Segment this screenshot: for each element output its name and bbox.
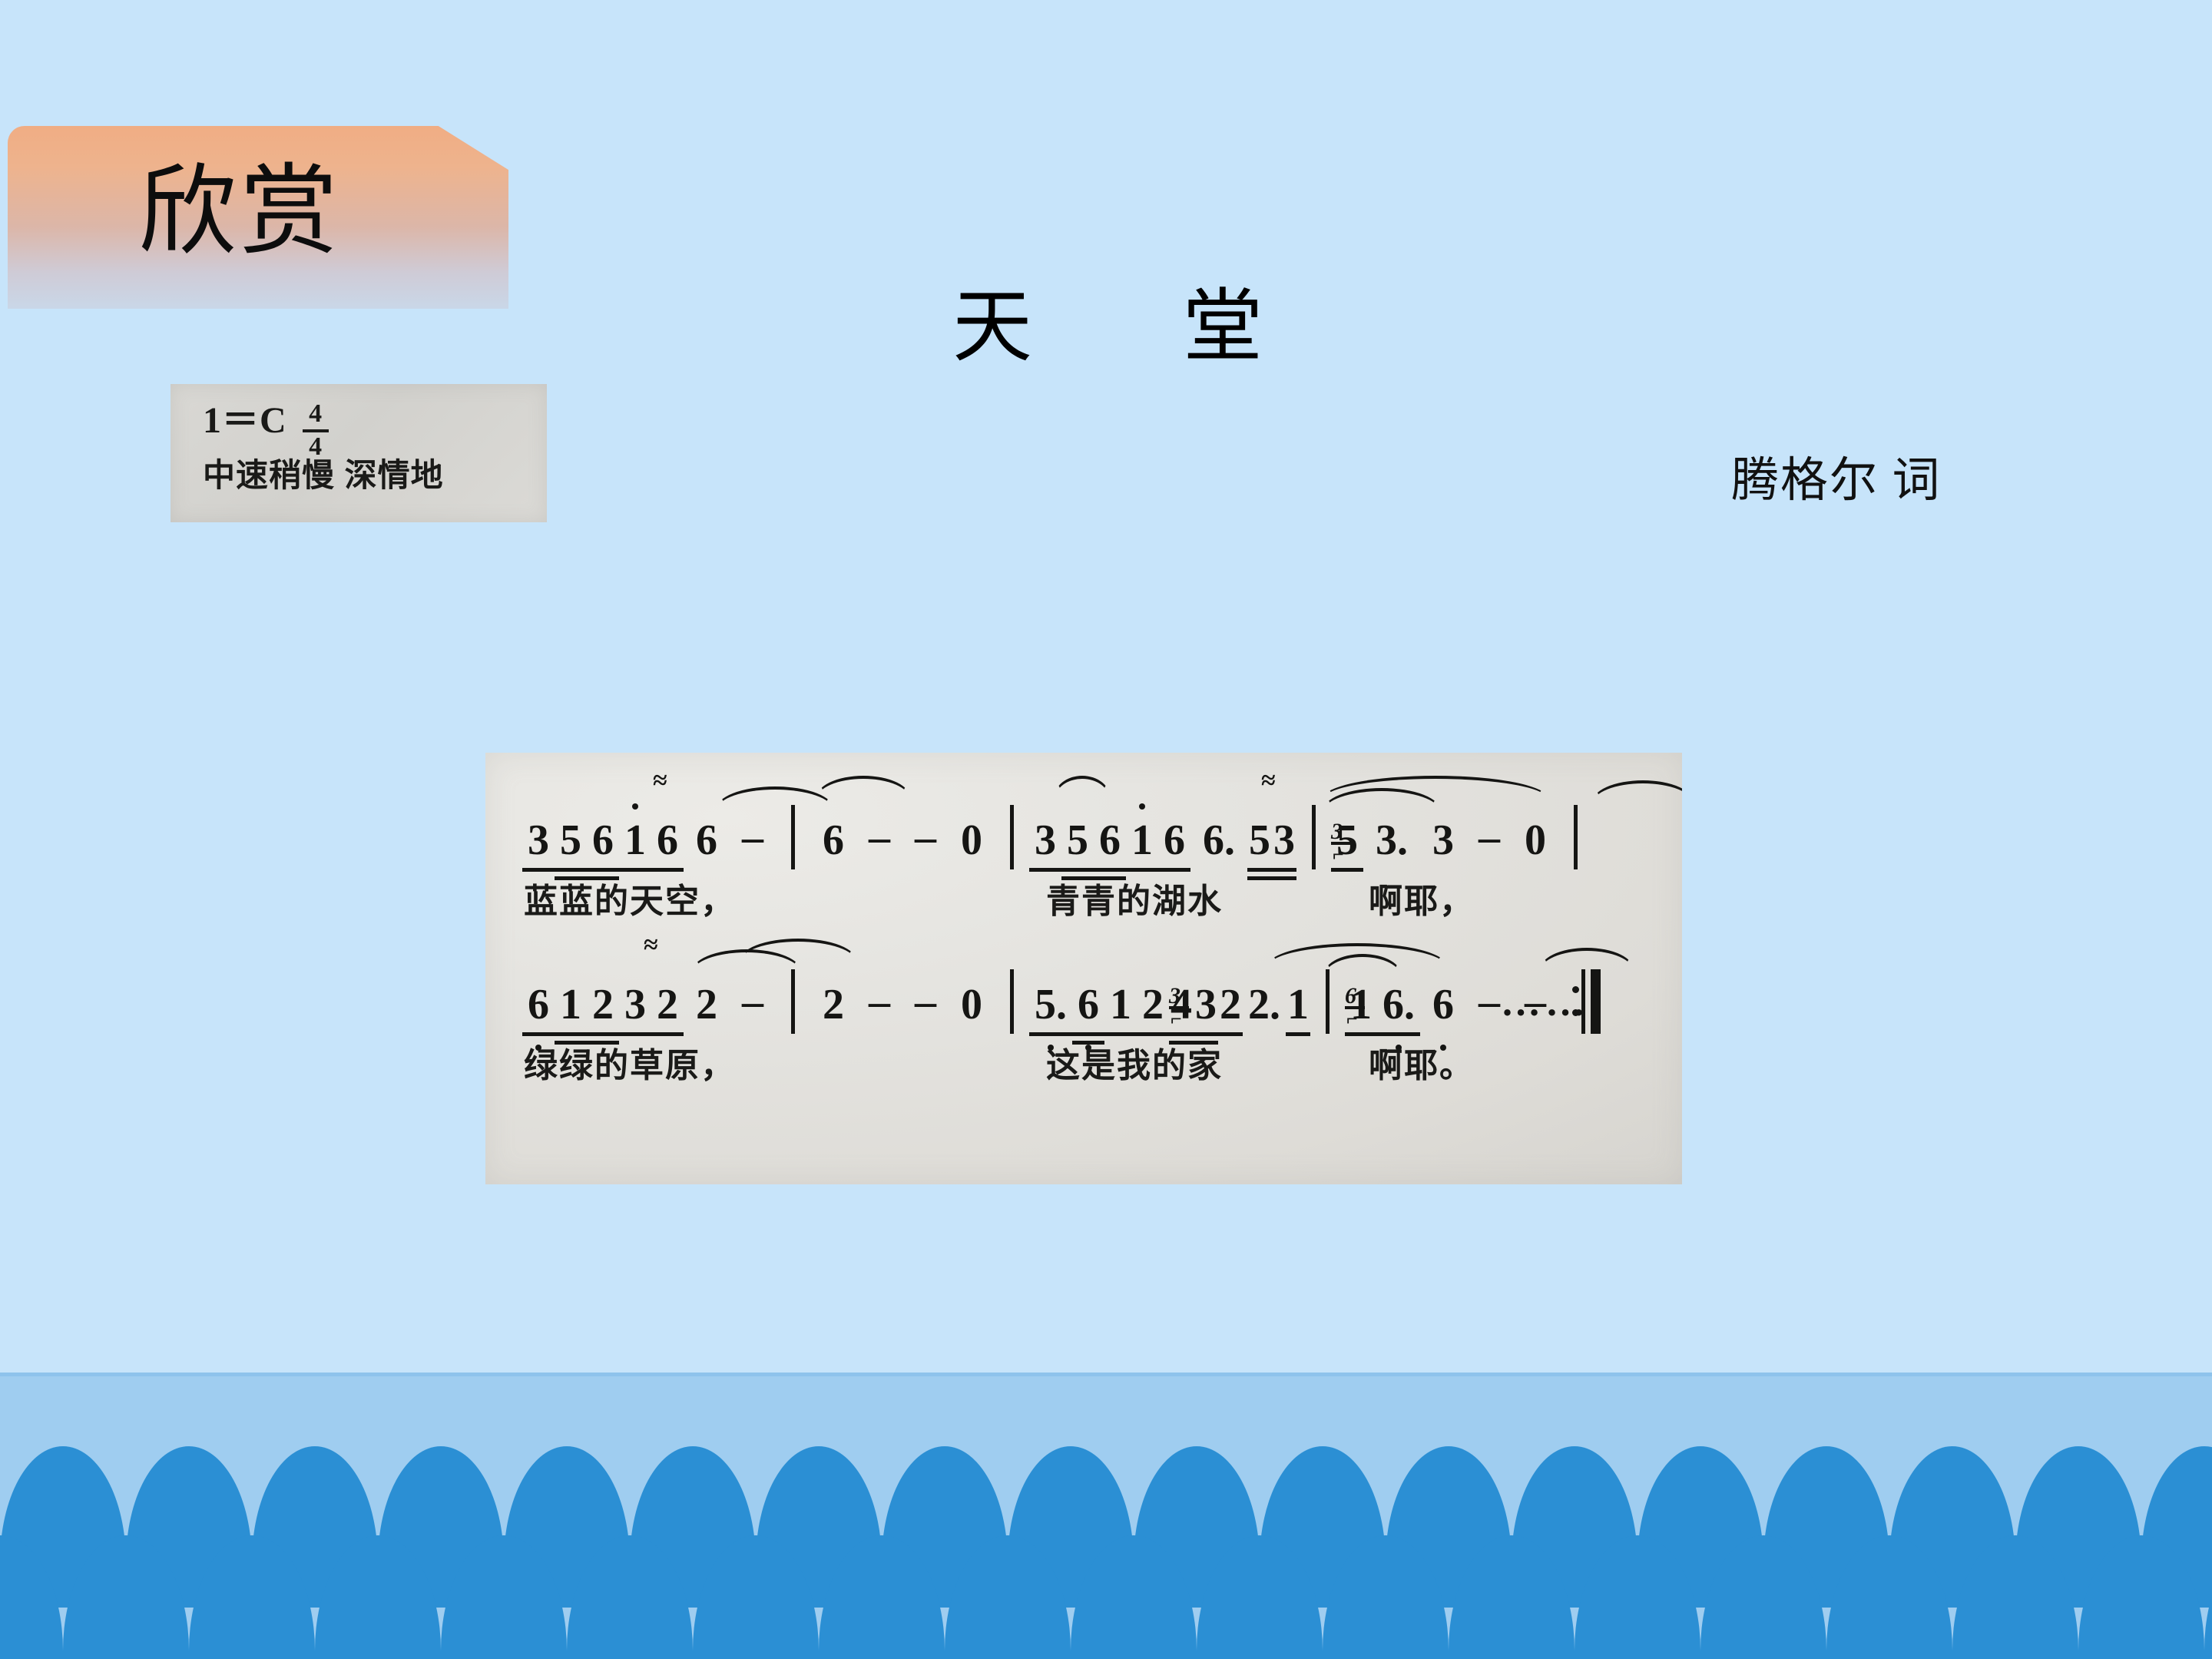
note: 2 <box>1218 983 1243 1026</box>
note: 5. <box>1029 983 1072 1026</box>
slur-mark <box>816 776 911 799</box>
arch-shape <box>567 1535 693 1659</box>
ornament-mark: ≈ <box>644 932 656 959</box>
note: 4 <box>1169 983 1194 1026</box>
footer-top-edge <box>0 1373 2212 1376</box>
key-label: 1＝C <box>203 402 287 439</box>
lyric-phrase: 啊耶， <box>1369 883 1475 920</box>
arch-row-front <box>0 1535 2212 1659</box>
note: 2 <box>810 983 856 1026</box>
section-banner-label: 欣赏 <box>138 154 341 272</box>
key-signature-row: 1＝C 4 4 <box>203 402 329 462</box>
score-image: ≈ ≈ 3 5 6 1 6 6 – 6 – – 0 <box>485 753 1682 1184</box>
arch-shape <box>1197 1535 1323 1659</box>
note: 6. <box>1190 819 1247 862</box>
barline <box>791 805 795 869</box>
note: 6. <box>1377 983 1420 1026</box>
slur-mark <box>1054 776 1111 799</box>
footer-decoration-band <box>0 1373 2212 1659</box>
note: 6 <box>522 983 555 1026</box>
arch-shape <box>1449 1535 1575 1659</box>
note: 2 <box>1137 983 1169 1026</box>
note: 2 <box>587 983 619 1026</box>
arch-shape <box>1071 1535 1197 1659</box>
arch-shape <box>1575 1535 1700 1659</box>
octave-dot-up <box>632 803 638 810</box>
note: 1 <box>1126 819 1158 862</box>
note: 6 <box>1158 819 1190 862</box>
note: 6 <box>651 819 684 862</box>
slur-mark <box>1323 776 1548 799</box>
note: 3 <box>619 983 651 1026</box>
octave-dot-up <box>1139 803 1145 810</box>
note: 5 <box>1247 819 1272 862</box>
arch-shape <box>1323 1535 1449 1659</box>
note: 6 <box>684 819 730 862</box>
page-title: 天 堂 <box>952 278 1298 378</box>
slur-mark <box>1591 780 1682 803</box>
ornament-mark: ≈ <box>653 768 665 794</box>
lyric-phrase: 这是我的家 <box>1046 1048 1223 1084</box>
duration-dash: – <box>730 980 776 1023</box>
note: 1 <box>1286 983 1310 1026</box>
arch-shape <box>693 1535 819 1659</box>
barline-thick <box>1591 969 1601 1034</box>
lyricist-credit: 腾格尔 词 <box>1731 452 1942 512</box>
ornament-mark: ≈ <box>1261 768 1273 794</box>
barline <box>1312 805 1316 869</box>
arch-shape <box>1952 1535 2078 1659</box>
arch-shape <box>819 1535 945 1659</box>
note: 3 <box>1272 819 1296 862</box>
note: 5 <box>555 819 587 862</box>
note: 3 <box>1194 983 1218 1026</box>
time-signature: 4 4 <box>303 401 329 460</box>
arch-shape <box>315 1535 441 1659</box>
time-signature-numerator: 4 <box>303 401 329 428</box>
lyric-phrase: 青青的湖水 <box>1046 883 1223 920</box>
key-signature-image: 1＝C 4 4 中速稍慢 深情地 <box>171 384 547 522</box>
arch-shape <box>441 1535 567 1659</box>
lyric-phrase: 蓝蓝的天空， <box>524 883 736 920</box>
arch-shape <box>2078 1535 2204 1659</box>
section-banner: 欣赏 <box>8 126 508 309</box>
rest: 0 <box>1512 819 1558 862</box>
arch-shape <box>0 1535 63 1659</box>
score-line-2: ≈ 6 1 2 3 2 2 – 2 – – 0 5. 6 <box>485 935 1682 1104</box>
note: 2. <box>1243 983 1286 1026</box>
rest: 0 <box>949 983 995 1026</box>
note: 2 <box>684 983 730 1026</box>
note-row: 6 1 2 3 2 2 – 2 – – 0 5. 6 1 2 3 <box>522 962 1603 1026</box>
rest: 0 <box>949 819 995 862</box>
duration-dash: – <box>1466 816 1512 859</box>
note: 3 <box>522 819 555 862</box>
slur-mark <box>739 939 857 962</box>
duration-dash: – <box>730 816 776 859</box>
note: 5 <box>1061 819 1094 862</box>
arch-shape <box>1826 1535 1952 1659</box>
note: 1 <box>619 819 651 862</box>
duration-dash: – <box>902 816 949 859</box>
arch-shape <box>1700 1535 1826 1659</box>
note: 6 <box>1072 983 1104 1026</box>
arch-shape <box>189 1535 315 1659</box>
note: 3 <box>1420 819 1466 862</box>
note: 6 <box>1094 819 1126 862</box>
slide-canvas: 欣赏 天 堂 腾格尔 词 1＝C 4 4 中速稍慢 深情地 ≈ ≈ <box>0 0 2212 1659</box>
note: 3 <box>1029 819 1061 862</box>
barline <box>791 969 795 1034</box>
lyric-phrase: 绿绿的草原， <box>524 1048 736 1084</box>
note: 6 <box>1420 983 1466 1026</box>
barline <box>1326 969 1330 1034</box>
note: 1 <box>1104 983 1137 1026</box>
arch-shape <box>63 1535 189 1659</box>
continuation-ellipsis: …… <box>1501 983 1590 1023</box>
note: 1 <box>555 983 587 1026</box>
arch-shape <box>945 1535 1071 1659</box>
note: 6 <box>587 819 619 862</box>
note: 1 <box>1345 983 1377 1026</box>
note: 2 <box>651 983 684 1026</box>
arch-shape <box>2204 1535 2212 1659</box>
score-line-1: ≈ ≈ 3 5 6 1 6 6 – 6 – – 0 <box>485 771 1682 940</box>
note: 6 <box>810 819 856 862</box>
lyric-phrase: 啊耶。 <box>1369 1048 1475 1084</box>
note: 3. <box>1363 819 1420 862</box>
barline <box>1010 805 1014 869</box>
duration-dash: – <box>856 816 902 859</box>
duration-dash: – <box>856 980 902 1023</box>
note: 5 <box>1331 819 1363 862</box>
duration-dash: – <box>902 980 949 1023</box>
barline <box>1574 805 1578 869</box>
note-row: 3 5 6 1 6 6 – 6 – – 0 3 5 6 1 6 6. 5 3 <box>522 797 1593 862</box>
barline <box>1010 969 1014 1034</box>
tempo-expression-label: 中速稍慢 深情地 <box>203 458 444 493</box>
